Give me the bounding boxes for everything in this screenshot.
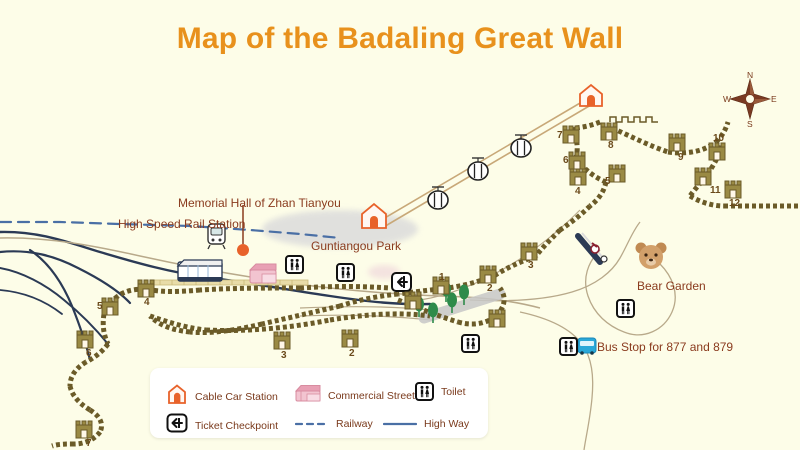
- highway-branch-4: [0, 290, 62, 314]
- ticket-checkpoint-map-icon: [392, 273, 411, 291]
- tower-number-n6: 6: [563, 155, 569, 166]
- legend-item-toilet[interactable]: Toilet: [415, 382, 466, 401]
- rail-spur: [152, 280, 308, 285]
- compass-south-label: S: [747, 119, 753, 129]
- legend-item-commercial-street[interactable]: Commercial Street: [295, 384, 415, 407]
- tower-number-n9: 9: [678, 152, 684, 163]
- cable-car-station-icon: [166, 384, 188, 409]
- toilet-glyph: [288, 258, 301, 271]
- highway-branch-3: [0, 268, 108, 344]
- tower-number-w5: 5: [97, 301, 103, 312]
- compass-west-label: W: [723, 94, 731, 104]
- legend-item-highway[interactable]: High Way: [383, 415, 469, 433]
- tower-number-sw2: 2: [349, 348, 355, 359]
- tower-number-s2: 2: [487, 283, 493, 294]
- label-memorial-hall: Memorial Hall of Zhan Tianyou: [178, 196, 341, 210]
- gondola-icons: [428, 135, 531, 209]
- compass-rose: [730, 79, 770, 119]
- label-bear-garden: Bear Garden: [637, 279, 706, 293]
- tower-number-n4: 4: [575, 186, 581, 197]
- toilet-glyph: [464, 337, 477, 350]
- highway-branch-1: [0, 251, 130, 303]
- compass-north-label: N: [747, 70, 753, 80]
- railway-line-icon: [295, 415, 329, 433]
- tower-number-w7: 7: [86, 438, 92, 449]
- tower-number-w4: 4: [144, 297, 150, 308]
- toboggan-icon: [578, 233, 607, 262]
- cable-car-station-map-upper: [580, 85, 602, 106]
- tower-number-n5: 5: [605, 176, 611, 187]
- label-guntiangou-park: Guntiangou Park: [311, 239, 401, 253]
- toilet-glyph: [562, 340, 575, 353]
- tower-number-n7: 7: [557, 130, 563, 141]
- legend-label-ticket-checkpoint: Ticket Checkpoint: [195, 420, 278, 432]
- trail-east-loop: [470, 222, 640, 301]
- toilet-icon[interactable]: [461, 334, 480, 353]
- legend-item-railway[interactable]: Railway: [295, 415, 373, 433]
- toilet-glyph: [339, 266, 352, 279]
- map-canvas: Map of the Badaling Great Wall: [0, 0, 800, 450]
- tower-number-n11: 11: [710, 185, 721, 196]
- highway-line-icon: [383, 415, 417, 433]
- legend-label-commercial-street: Commercial Street: [328, 390, 415, 402]
- legend-label-toilet: Toilet: [441, 386, 466, 398]
- tower-number-sw3: 3: [281, 350, 287, 361]
- toilet-icon[interactable]: [616, 299, 635, 318]
- highway-branch-2: [30, 250, 90, 360]
- tower-number-s1: 1: [439, 272, 445, 283]
- tower-number-n12: 12: [729, 198, 740, 209]
- toilet-icon[interactable]: [559, 337, 578, 356]
- cable-car-station-map-lower: [362, 204, 386, 228]
- shuttle-icon: [178, 260, 222, 281]
- ticket-checkpoint-icon: [166, 413, 188, 438]
- legend-item-ticket-checkpoint[interactable]: Ticket Checkpoint: [166, 413, 278, 438]
- tower-number-w6: 6: [86, 348, 92, 359]
- map-legend: Cable Car Station Commercial Street: [150, 368, 488, 438]
- legend-label-railway: Railway: [336, 418, 373, 430]
- toilet-glyph: [619, 302, 632, 315]
- tower-number-s3: 3: [528, 260, 534, 271]
- tower-number-n8: 8: [608, 140, 614, 151]
- legend-item-cable-car-station[interactable]: Cable Car Station: [166, 384, 278, 409]
- compass-east-label: E: [771, 94, 777, 104]
- commercial-street-map-icon: [250, 264, 276, 283]
- tower-number-n10: 10: [713, 133, 724, 144]
- cable-line-upper: [378, 96, 592, 222]
- toilet-icon: [415, 382, 434, 401]
- label-high-speed-rail-station: High Speed Rail Station: [118, 217, 245, 231]
- toilet-icon[interactable]: [336, 263, 355, 282]
- toilet-icon[interactable]: [285, 255, 304, 274]
- trail-bus: [520, 312, 593, 450]
- label-bus-stop: Bus Stop for 877 and 879: [597, 340, 733, 354]
- legend-label-highway: High Way: [424, 418, 469, 430]
- commercial-street-icon: [295, 384, 321, 407]
- legend-label-cable-car-station: Cable Car Station: [195, 391, 278, 403]
- bus-icon: [578, 338, 596, 355]
- memorial-hall-marker: [237, 244, 249, 256]
